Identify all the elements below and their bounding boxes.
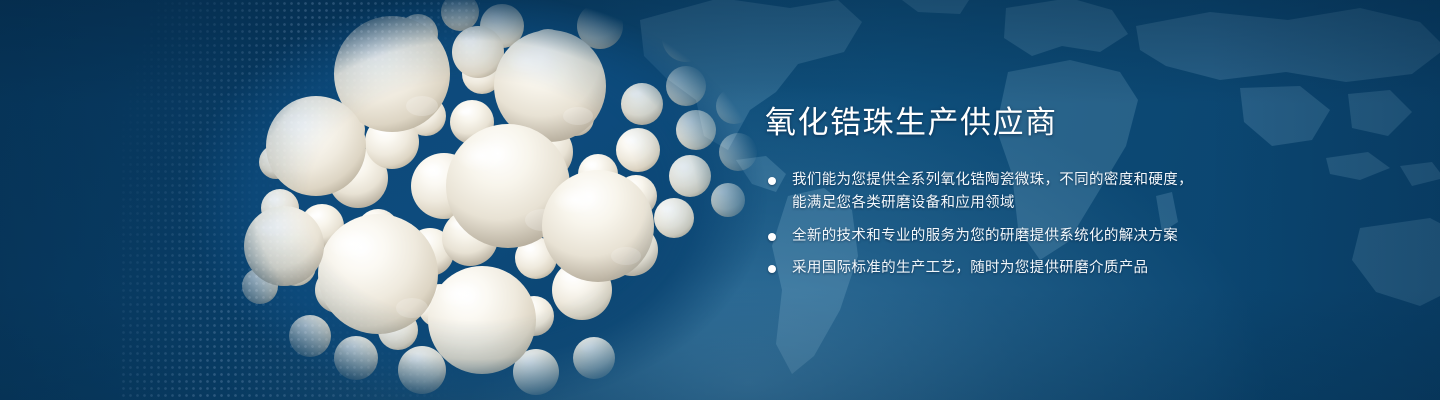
list-item: 全新的技术和专业的服务为您的研磨提供系统化的解决方案: [765, 225, 1325, 248]
list-item: 我们能为您提供全系列氧化锆陶瓷微珠，不同的密度和硬度， 能满足您各类研磨设备和应…: [765, 169, 1325, 216]
bullet-dot-icon: [768, 265, 776, 273]
feature-list: 我们能为您提供全系列氧化锆陶瓷微珠，不同的密度和硬度， 能满足您各类研磨设备和应…: [765, 169, 1325, 281]
banner-copy: 氧化锆珠生产供应商 我们能为您提供全系列氧化锆陶瓷微珠，不同的密度和硬度， 能满…: [765, 106, 1325, 281]
list-item: 采用国际标准的生产工艺，随时为您提供研磨介质产品: [765, 257, 1325, 280]
bullet-dot-icon: [768, 177, 776, 185]
page-title: 氧化锆珠生产供应商: [765, 106, 1325, 141]
list-item-line: 全新的技术和专业的服务为您的研磨提供系统化的解决方案: [792, 225, 1325, 248]
list-item-line: 能满足您各类研磨设备和应用领域: [792, 192, 1325, 215]
bullet-dot-icon: [768, 233, 776, 241]
list-item-line: 我们能为您提供全系列氧化锆陶瓷微珠，不同的密度和硬度，: [792, 169, 1325, 192]
hero-banner: 氧化锆珠生产供应商 我们能为您提供全系列氧化锆陶瓷微珠，不同的密度和硬度， 能满…: [0, 0, 1440, 400]
list-item-line: 采用国际标准的生产工艺，随时为您提供研磨介质产品: [792, 257, 1325, 280]
zirconia-beads-photo: [130, 0, 770, 400]
